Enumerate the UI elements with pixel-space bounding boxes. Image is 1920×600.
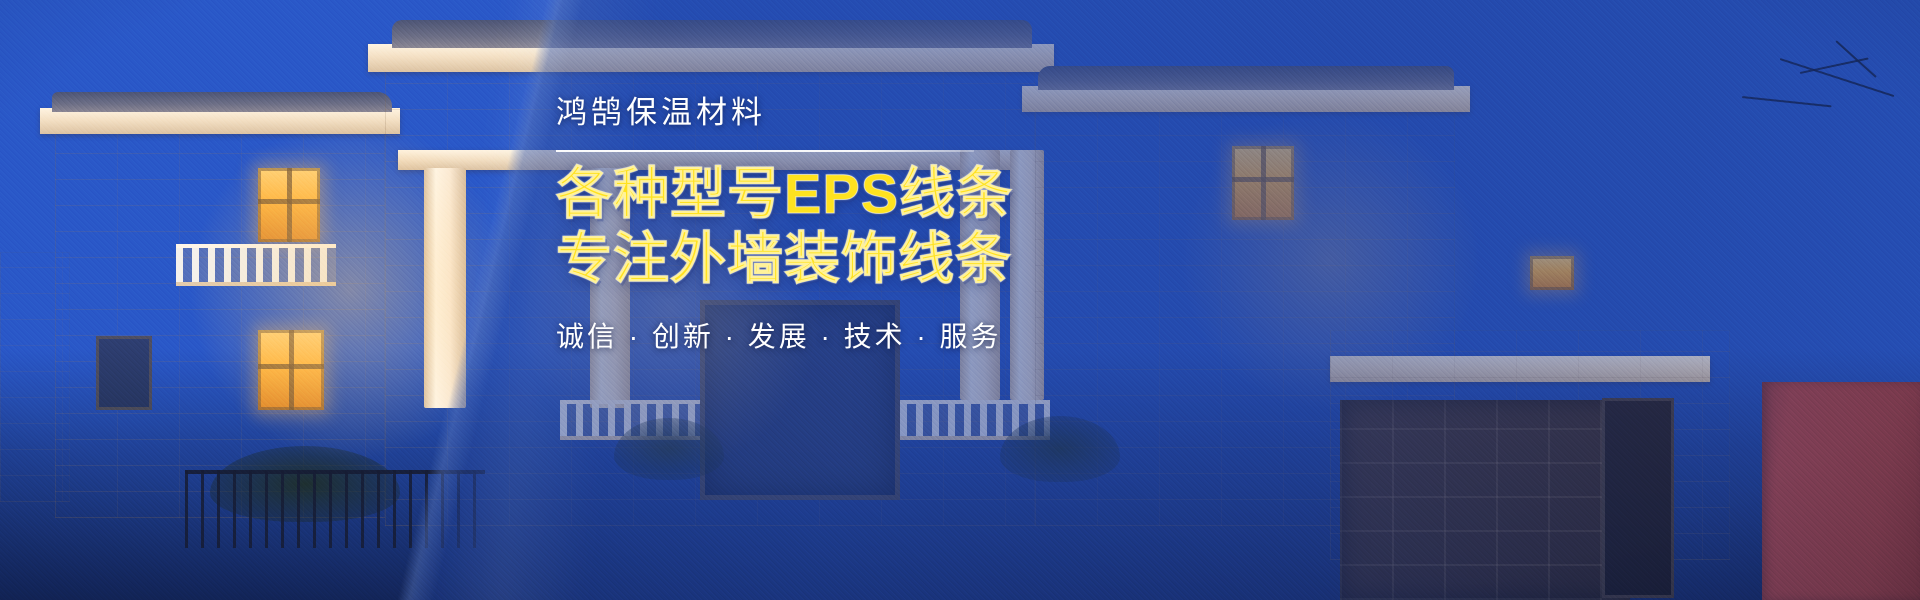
banner-copy: 鸿鹄保温材料 各种型号EPS线条 专注外墙装饰线条 诚信 · 创新 · 发展 ·…: [556, 96, 1026, 355]
headline-line-2: 专注外墙装饰线条: [556, 229, 1026, 288]
promo-banner: 鸿鹄保温材料 各种型号EPS线条 专注外墙装饰线条 诚信 · 创新 · 发展 ·…: [0, 0, 1920, 600]
brand-name: 鸿鹄保温材料: [556, 96, 1026, 130]
divider-rule: [556, 150, 974, 152]
headline-line-1: 各种型号EPS线条: [556, 164, 1026, 223]
tagline: 诚信 · 创新 · 发展 · 技术 · 服务: [556, 315, 1026, 355]
